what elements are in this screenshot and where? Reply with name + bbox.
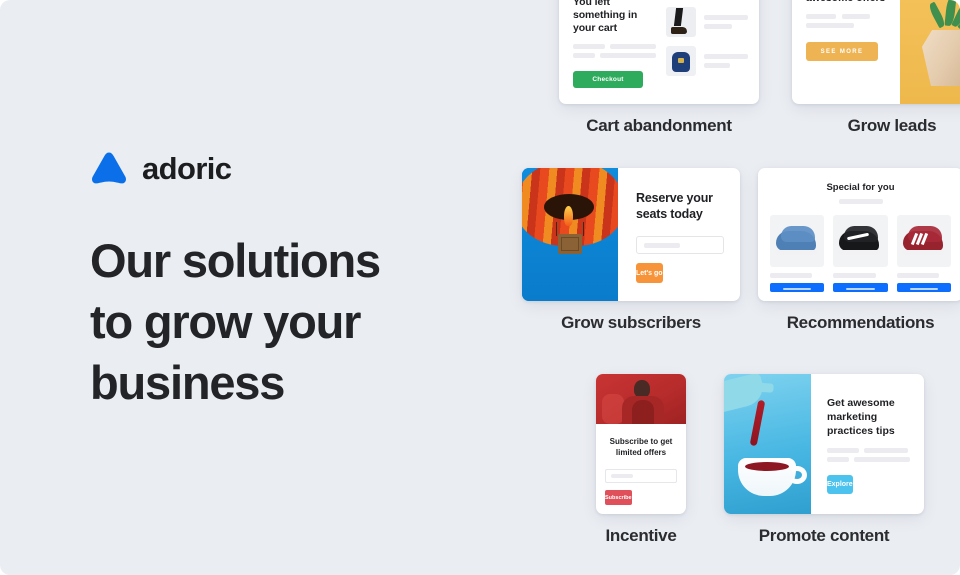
incentive-form-column: Subscribe to get limited offers Subscrib… [596,424,686,505]
incentive-photo-person [596,374,686,424]
email-field[interactable] [605,469,677,483]
product-photo-red-sneaker [897,215,951,267]
skeleton-bar [610,44,656,49]
skeleton-bar [897,273,939,278]
cart-placeholder-text [573,44,656,58]
grow-subscribers-preview: Reserve your seats today Let's go [522,168,740,301]
skeleton-bar [806,14,836,19]
balloon-photo [522,168,618,301]
lets-go-button[interactable]: Let's go [636,263,663,283]
solution-caption: Recommendations [758,313,960,333]
list-item[interactable] [897,215,951,292]
add-to-cart-button[interactable] [897,283,951,292]
subscribe-button[interactable]: Subscribe [605,490,632,505]
leads-title: Don't miss our awesome offers [806,0,900,5]
skeleton-bar [864,448,908,453]
skeleton-bar [806,23,854,28]
flower-pot [922,30,960,86]
skeleton-bar [704,63,730,68]
list-item[interactable] [770,215,824,292]
incentive-preview: Subscribe to get limited offers Subscrib… [596,374,686,514]
cart-product-list [666,0,748,92]
solution-recommendations[interactable]: Special for you [758,168,960,333]
skeleton-bar [827,457,849,462]
grow-leads-preview: Don't miss our awesome offers SEE MORE [792,0,960,104]
promote-content-preview: Get awesome marketing practices tips Exp… [724,374,924,514]
solution-caption: Promote content [724,526,924,546]
list-item[interactable] [833,215,887,292]
pouring-stream [750,400,766,446]
solution-caption: Grow subscribers [522,313,740,333]
add-to-cart-button[interactable] [833,283,887,292]
list-item[interactable] [666,46,748,76]
skeleton-bar [644,243,680,248]
leads-placeholder-text [806,14,900,28]
skeleton-bar [842,14,870,19]
product-photo-blue-sneaker [770,215,824,267]
solution-grow-subscribers[interactable]: Reserve your seats today Let's go Grow s… [522,168,740,333]
solutions-grid: You left something in your cart Checkout [0,0,960,575]
recommendations-title: Special for you [770,182,951,193]
product-thumbnail-black-boots [666,7,696,37]
see-more-button[interactable]: SEE MORE [806,42,878,61]
cart-title: You left something in your cart [573,0,656,35]
solution-grow-leads[interactable]: Don't miss our awesome offers SEE MORE [792,0,960,136]
solution-caption: Grow leads [792,116,960,136]
solution-cart-abandonment[interactable]: You left something in your cart Checkout [559,0,759,136]
skeleton-bar [833,273,875,278]
balloon-basket [558,234,582,254]
page-root: adoric Our solutions to grow your busine… [0,0,960,575]
promote-title: Get awesome marketing practices tips [827,396,910,438]
skeleton-bar [770,273,812,278]
skeleton-bar [600,53,656,58]
checkout-button[interactable]: Checkout [573,71,643,88]
skeleton-bar [704,15,748,20]
skeleton-bar [704,24,732,29]
solution-promote-content[interactable]: Get awesome marketing practices tips Exp… [724,374,924,546]
leads-photo-plant [900,0,960,104]
skeleton-bar [839,199,883,204]
promote-message-column: Get awesome marketing practices tips Exp… [811,374,924,514]
list-item[interactable] [666,7,748,37]
subscribers-title: Reserve your seats today [636,190,724,222]
skeleton-bar [827,448,859,453]
subscribers-form-column: Reserve your seats today Let's go [618,168,740,301]
incentive-title: Subscribe to get limited offers [605,436,677,458]
cart-abandonment-preview: You left something in your cart Checkout [559,0,759,104]
explore-button[interactable]: Explore [827,475,853,494]
skeleton-bar [854,457,910,462]
skeleton-bar [573,53,595,58]
recommendations-preview: Special for you [758,168,960,301]
add-to-cart-button[interactable] [770,283,824,292]
cart-message-column: You left something in your cart Checkout [573,0,656,92]
skeleton-bar [573,44,605,49]
email-field[interactable] [636,236,724,254]
promote-photo-tea-cup [724,374,811,514]
product-thumbnail-blue-backpack [666,46,696,76]
solution-incentive[interactable]: Subscribe to get limited offers Subscrib… [596,374,686,546]
skeleton-bar [704,54,748,59]
solution-caption: Incentive [596,526,686,546]
product-photo-black-sneaker [833,215,887,267]
cup-icon [738,458,796,496]
recommendation-products [770,215,951,292]
promote-placeholder-text [827,448,910,462]
skeleton-bar [611,474,633,478]
leads-message-column: Don't miss our awesome offers SEE MORE [792,0,900,104]
solution-caption: Cart abandonment [559,116,759,136]
